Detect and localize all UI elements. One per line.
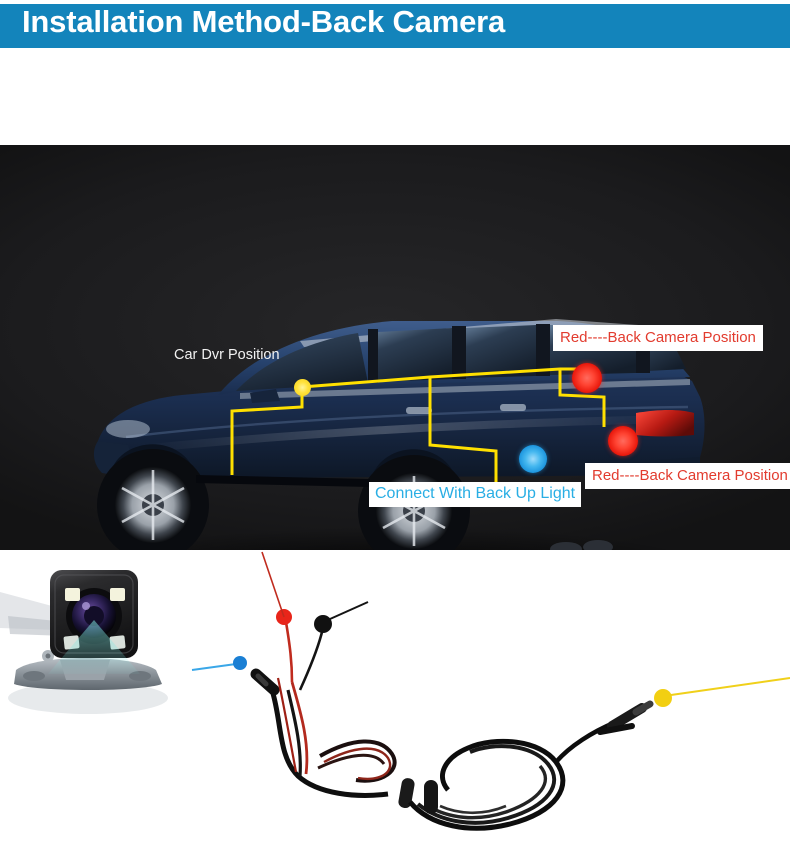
cable-harness <box>192 552 790 828</box>
page-title: Installation Method-Back Camera <box>22 3 505 41</box>
back-camera-photo <box>0 570 168 714</box>
wiring-diagram-panel: Red Connect With Back-Up Light + Black C… <box>0 550 790 851</box>
label-back-camera-position-bottom: Red----Back Camera Position <box>585 463 790 489</box>
car-installation-diagram: Car Dvr Position Red----Back Camera Posi… <box>0 145 790 550</box>
yellow-marker-dot <box>654 689 672 707</box>
marker-back-camera-top <box>572 363 602 393</box>
black-marker-dot <box>314 615 332 633</box>
blue-marker-dot <box>233 656 247 670</box>
wiring-illustration <box>0 550 790 851</box>
marker-car-dvr <box>294 379 311 396</box>
label-car-dvr-position: Car Dvr Position <box>174 347 280 363</box>
label-back-camera-position-top: Red----Back Camera Position <box>553 325 763 351</box>
marker-backup-light <box>519 445 547 473</box>
marker-back-camera-bottom <box>608 426 638 456</box>
label-connect-backup-light: Connect With Back Up Light <box>369 482 581 507</box>
